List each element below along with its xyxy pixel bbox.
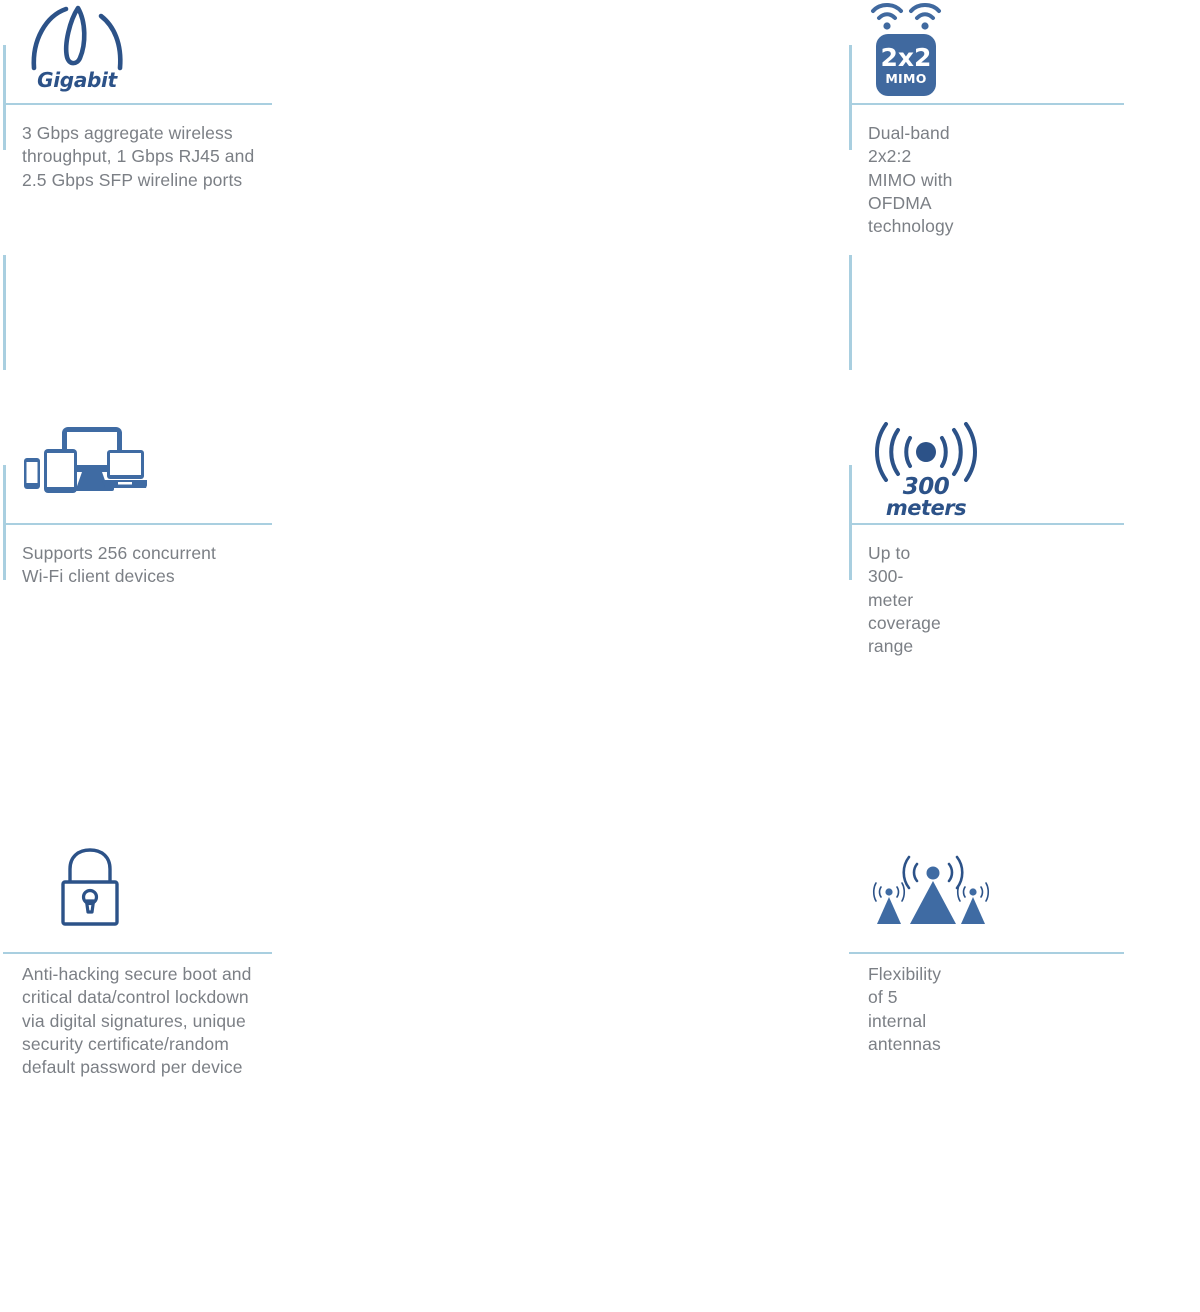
feature-grid: Gigabit 3 Gbps aggregate wireless throug… <box>0 0 1200 660</box>
accent-bar <box>3 465 6 580</box>
divider-line <box>849 952 1124 954</box>
feature-cell-range: 300 meters Up to 300-meter coverage rang… <box>420 210 840 420</box>
feature-cell-clients: Supports 256 concurrent Wi-Fi client dev… <box>0 210 420 420</box>
accent-bar <box>3 255 6 370</box>
icon-caption: Gigabit <box>22 68 132 92</box>
gigabit-center-petal <box>66 8 84 63</box>
feature-cell-poe: PoE Self power adaptation upon auto dete… <box>840 0 1200 210</box>
icon-area: Gigabit <box>22 0 132 105</box>
feature-cell-mimo: 2x2 MIMO Dual-band 2x2:2 MIMO with OFDMA… <box>420 0 840 210</box>
padlock-icon <box>50 845 130 927</box>
gigabit-wings-icon <box>22 0 132 72</box>
feature-cell-security: Anti-hacking secure boot and critical da… <box>0 420 420 660</box>
accent-bar <box>3 45 6 150</box>
divider-line <box>3 952 272 954</box>
icon-area <box>22 845 130 950</box>
antenna-towers-icon <box>868 845 998 930</box>
feature-cell-controller: Embedded controller manages up to 50 loc… <box>840 420 1200 660</box>
icon-area <box>868 845 998 950</box>
feature-description: Anti-hacking secure boot and critical da… <box>22 963 251 1079</box>
feature-cell-gigabit: Gigabit 3 Gbps aggregate wireless throug… <box>0 0 420 210</box>
feature-description: 3 Gbps aggregate wireless throughput, 1 … <box>22 122 254 192</box>
feature-description: Flexibility of 5 internal antennas <box>868 963 941 1056</box>
feature-cell-antennas: Flexibility of 5 internal antennas <box>420 420 840 660</box>
feature-cell-qos: QoS Advanced QoS to ensure real-time per… <box>840 210 1200 420</box>
